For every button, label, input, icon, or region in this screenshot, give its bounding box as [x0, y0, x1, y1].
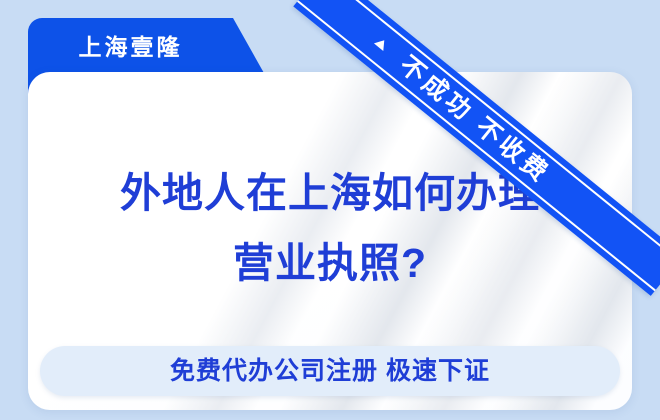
- cta-banner-label: 免费代办公司注册 极速下证: [40, 346, 620, 396]
- content-card: 外地人在上海如何办理 营业执照? 免费代办公司注册 极速下证: [28, 72, 632, 410]
- triangle-up-icon: [374, 36, 389, 51]
- cta-banner[interactable]: 免费代办公司注册 极速下证: [40, 346, 620, 396]
- promo-poster: 上海壹隆 外地人在上海如何办理 营业执照? 免费代办公司注册 极速下证 不成功 …: [0, 0, 660, 420]
- brand-tab-label: 上海壹隆: [28, 18, 233, 76]
- page-title-line-2: 营业执照?: [28, 228, 632, 298]
